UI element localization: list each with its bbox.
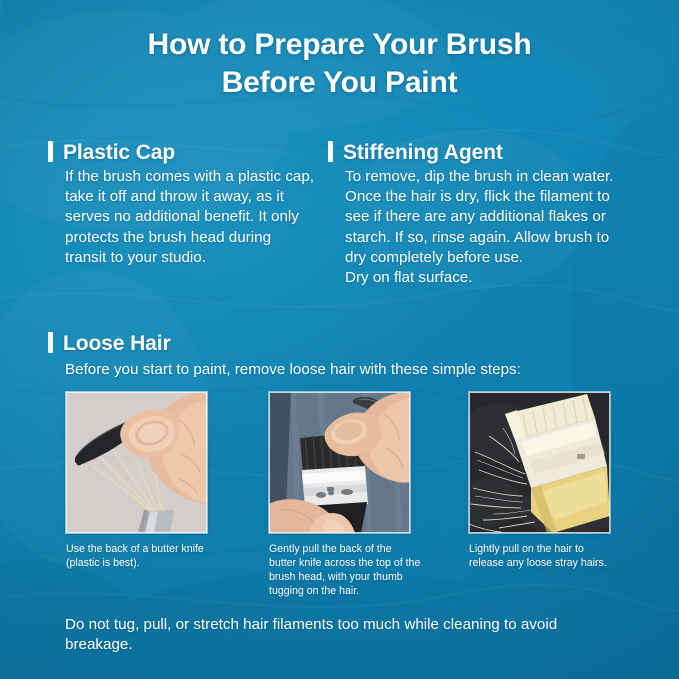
accent-bar-plastic-cap — [48, 141, 53, 162]
section-body-stiffening-agent: To remove, dip the brush in clean water.… — [345, 167, 631, 288]
photo-3-svg — [469, 392, 610, 533]
step-caption-2: Gently pull the back of the butter knife… — [269, 543, 421, 599]
butter-knife-on-brush-bristles-photo — [66, 392, 207, 533]
section-body-loose-hair: Before you start to paint, remove loose … — [65, 360, 625, 380]
section-heading-stiffening-agent: Stiffening Agent — [343, 142, 503, 163]
page-title-line-2: Before You Paint — [0, 64, 679, 102]
footer-warning-note: Do not tug, pull, or stretch hair filame… — [65, 615, 623, 656]
section-body-plastic-cap: If the brush comes with a plastic cap, t… — [65, 167, 315, 268]
section-heading-loose-hair: Loose Hair — [63, 333, 171, 354]
page-title-line-1: How to Prepare Your Brush — [0, 26, 679, 64]
infographic-poster: How to Prepare Your Brush Before You Pai… — [0, 0, 679, 679]
photo-2-svg — [269, 392, 410, 533]
photo-1-svg — [66, 392, 207, 533]
page-title: How to Prepare Your Brush Before You Pai… — [0, 26, 679, 102]
loose-stray-hairs-on-dark-surface-photo — [469, 392, 610, 533]
step-photo-row — [66, 392, 611, 533]
step-caption-3: Lightly pull on the hair to release any … — [469, 543, 621, 571]
section-heading-plastic-cap: Plastic Cap — [63, 142, 175, 163]
step-caption-1: Use the back of a butter knife (plastic … — [66, 543, 218, 571]
accent-bar-stiffening-agent — [328, 141, 333, 162]
accent-bar-loose-hair — [48, 332, 53, 353]
pulling-knife-across-brush-head-photo — [269, 392, 410, 533]
